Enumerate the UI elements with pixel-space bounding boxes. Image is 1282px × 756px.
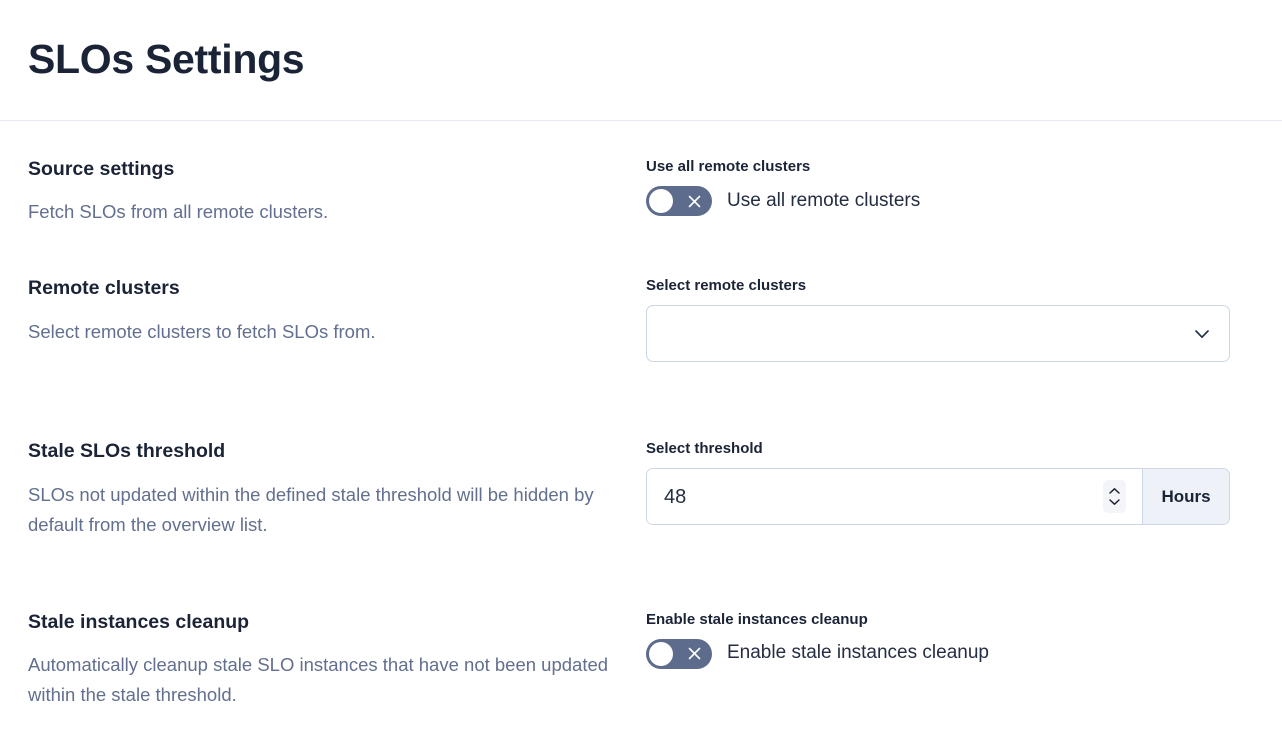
use-all-remote-clusters-toggle[interactable] [646,186,712,216]
threshold-value[interactable]: 48 [664,485,1103,509]
toggle-knob [649,642,673,666]
chevron-down-icon[interactable] [1108,498,1121,506]
select-threshold-label: Select threshold [646,440,1230,458]
close-x-icon [676,639,712,669]
select-threshold-input-group: 48 Hours [646,468,1230,525]
remote-clusters-description-column: Remote clusters Select remote clusters t… [28,277,646,346]
source-settings-description-column: Source settings Fetch SLOs from all remo… [28,158,646,227]
stale-cleanup-description: Automatically cleanup stale SLO instance… [28,650,622,710]
stale-cleanup-description-column: Stale instances cleanup Automatically cl… [28,611,646,710]
use-all-remote-clusters-toggle-text[interactable]: Use all remote clusters [727,190,920,213]
remote-clusters-control-column: Select remote clusters [646,277,1230,362]
stale-threshold-description-column: Stale SLOs threshold SLOs not updated wi… [28,440,646,539]
threshold-number-field[interactable]: 48 [647,469,1142,524]
stale-cleanup-heading: Stale instances cleanup [28,611,622,634]
enable-stale-instances-cleanup-toggle-row: Enable stale instances cleanup [646,639,1230,669]
stale-cleanup-control-column: Enable stale instances cleanup Enable st… [646,611,1230,669]
source-settings-description: Fetch SLOs from all remote clusters. [28,197,622,227]
chevron-down-icon[interactable] [1189,321,1215,347]
select-remote-clusters-dropdown[interactable] [646,305,1230,362]
setting-row-stale-slos-threshold: Stale SLOs threshold SLOs not updated wi… [28,362,1254,539]
setting-row-source-settings: Source settings Fetch SLOs from all remo… [28,121,1254,227]
enable-stale-instances-cleanup-toggle[interactable] [646,639,712,669]
use-all-remote-clusters-label: Use all remote clusters [646,158,1230,176]
chevron-up-icon[interactable] [1108,487,1121,495]
toggle-knob [649,189,673,213]
enable-stale-instances-cleanup-toggle-text[interactable]: Enable stale instances cleanup [727,642,989,665]
setting-row-remote-clusters: Remote clusters Select remote clusters t… [28,227,1254,362]
remote-clusters-description: Select remote clusters to fetch SLOs fro… [28,317,622,347]
page-title: SLOs Settings [28,37,304,82]
select-remote-clusters-label: Select remote clusters [646,277,1230,295]
source-settings-heading: Source settings [28,158,622,181]
use-all-remote-clusters-toggle-row: Use all remote clusters [646,186,1230,216]
threshold-stepper[interactable] [1103,480,1126,513]
close-x-icon [676,186,712,216]
stale-threshold-heading: Stale SLOs threshold [28,440,622,463]
source-settings-control-column: Use all remote clusters Use all remote c… [646,158,1230,216]
stale-threshold-description: SLOs not updated within the defined stal… [28,480,622,540]
remote-clusters-heading: Remote clusters [28,277,622,300]
setting-row-stale-instances-cleanup: Stale instances cleanup Automatically cl… [28,540,1254,710]
page-header: SLOs Settings [0,0,1282,121]
enable-stale-instances-cleanup-label: Enable stale instances cleanup [646,611,1230,629]
stale-threshold-control-column: Select threshold 48 [646,440,1230,525]
threshold-unit-addon[interactable]: Hours [1142,469,1229,524]
settings-body: Source settings Fetch SLOs from all remo… [0,121,1282,710]
